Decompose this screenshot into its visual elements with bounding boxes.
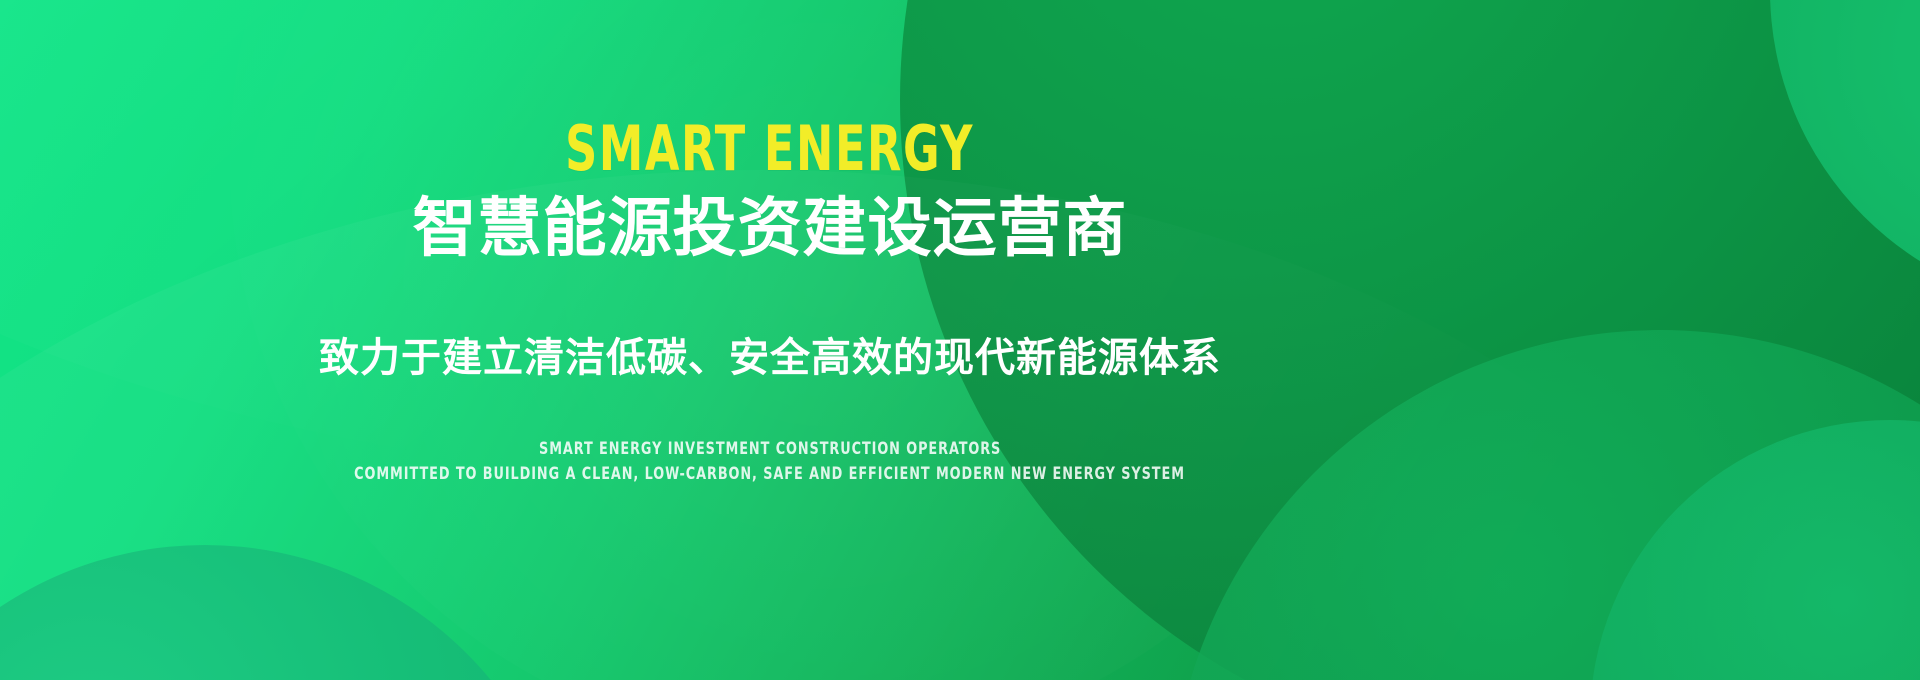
hero-text-block: SMART ENERGY 智慧能源投资建设运营商 致力于建立清洁低碳、安全高效的… — [0, 0, 1540, 680]
background-circle-top-right-icon — [1770, 0, 1920, 310]
hero-subheadline: 致力于建立清洁低碳、安全高效的现代新能源体系 — [319, 336, 1221, 380]
hero-english-line-1: SMART ENERGY INVESTMENT CONSTRUCTION OPE… — [539, 439, 1001, 459]
background-circle-bottom-right-icon — [1590, 420, 1920, 680]
hero-english-line-2: COMMITTED TO BUILDING A CLEAN, LOW-CARBO… — [355, 464, 1186, 484]
hero-eyebrow: SMART ENERGY — [566, 118, 975, 180]
smart-energy-hero-banner: SMART ENERGY 智慧能源投资建设运营商 致力于建立清洁低碳、安全高效的… — [0, 0, 1920, 680]
hero-headline: 智慧能源投资建设运营商 — [413, 194, 1128, 263]
